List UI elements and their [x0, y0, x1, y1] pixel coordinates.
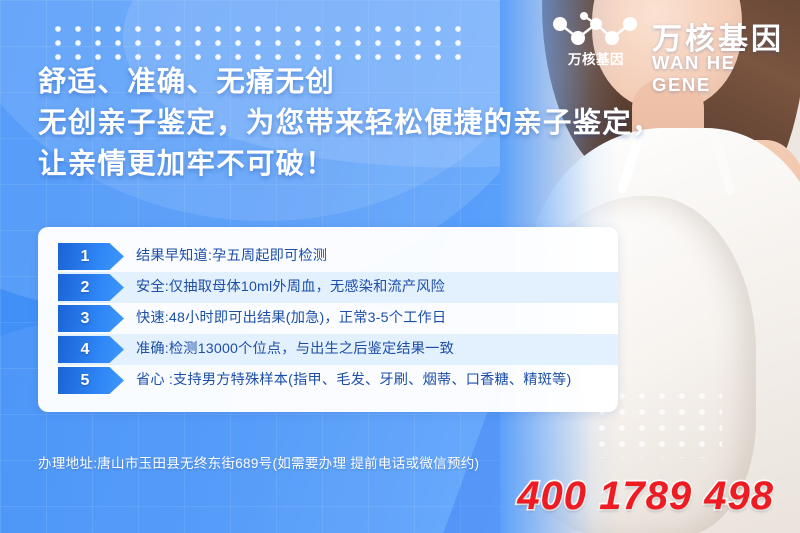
- feature-number-badge: 5: [58, 367, 124, 394]
- molecule-node-icon: 万核基因: [548, 12, 644, 78]
- feature-text: 准确:检测13000个位点，与出生之后鉴定结果一致: [124, 334, 618, 365]
- feature-number-badge: 2: [58, 274, 124, 301]
- headline-line-3: 让亲情更加牢不可破！: [38, 144, 662, 185]
- feature-text: 安全:仅抽取母体10ml外周血，无感染和流产风险: [124, 272, 618, 303]
- feature-row: 3 快速:48小时即可出结果(加急)，正常3-5个工作日: [58, 303, 618, 334]
- feature-row: 4 准确:检测13000个位点，与出生之后鉴定结果一致: [58, 334, 618, 365]
- feature-text: 快速:48小时即可出结果(加急)，正常3-5个工作日: [124, 303, 618, 334]
- feature-row: 1 结果早知道:孕五周起即可检测: [58, 241, 618, 272]
- logo-mark-label: 万核基因: [550, 48, 642, 68]
- decorative-dots-top: [48, 22, 468, 62]
- feature-number-badge: 3: [58, 305, 124, 332]
- headline-line-2: 无创亲子鉴定，为您带来轻松便捷的亲子鉴定，: [38, 103, 662, 144]
- feature-list: 1 结果早知道:孕五周起即可检测 2 安全:仅抽取母体10ml外周血，无感染和流…: [58, 241, 618, 396]
- feature-text: 省心 :支持男方特殊样本(指甲、毛发、牙刷、烟蒂、口香糖、精斑等): [124, 365, 618, 396]
- feature-panel: 1 结果早知道:孕五周起即可检测 2 安全:仅抽取母体10ml外周血，无感染和流…: [38, 227, 618, 412]
- feature-number-badge: 4: [58, 336, 124, 363]
- contact-phone-number: 400 1789 498: [517, 474, 774, 519]
- brand-logo: 万核基因 万核基因 WAN HE GENE: [548, 10, 792, 80]
- feature-text: 结果早知道:孕五周起即可检测: [124, 241, 618, 272]
- feature-row: 5 省心 :支持男方特殊样本(指甲、毛发、牙刷、烟蒂、口香糖、精斑等): [58, 365, 618, 396]
- feature-number-badge: 1: [58, 243, 124, 270]
- headline-block: 舒适、准确、无痛无创 无创亲子鉴定，为您带来轻松便捷的亲子鉴定， 让亲情更加牢不…: [38, 62, 662, 185]
- feature-row: 2 安全:仅抽取母体10ml外周血，无感染和流产风险: [58, 272, 618, 303]
- promo-banner: 万核基因 万核基因 WAN HE GENE 舒适、准确、无痛无创 无创亲子鉴定，…: [0, 0, 800, 533]
- office-address: 办理地址:唐山市玉田县无终东街689号(如需要办理 提前电话或微信预约): [38, 452, 479, 472]
- brand-name-en: WAN HE GENE: [652, 52, 792, 96]
